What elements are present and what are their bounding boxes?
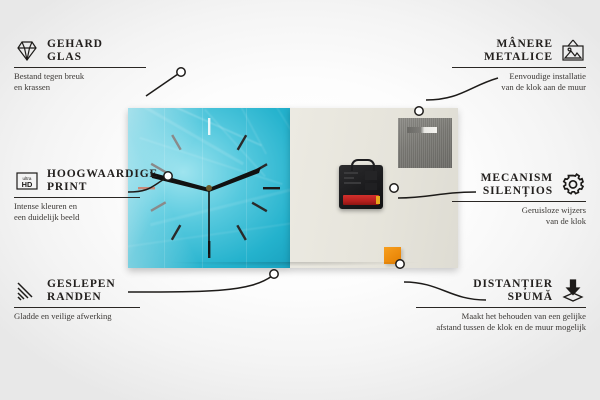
diamond-icon bbox=[14, 38, 40, 64]
callout-subtitle: Intense kleuren en een duidelijk beeld bbox=[14, 201, 140, 224]
callout-divider bbox=[416, 307, 586, 308]
callout-header: ultra HD HOOGWAARDIGE PRINT bbox=[14, 168, 140, 194]
callout-title: GEHARD GLAS bbox=[47, 38, 103, 64]
callout-gehard-glas: GEHARD GLAS Bestand tegen breuk en krass… bbox=[14, 38, 146, 94]
movement-hanger-loop bbox=[351, 159, 375, 171]
callout-title: MECANISM SILENȚIOS bbox=[481, 172, 553, 198]
callout-manere-metalice: MÂNERE METALICE Eenvoudige installatie v… bbox=[452, 38, 586, 94]
callout-divider bbox=[452, 201, 586, 202]
callout-title: MÂNERE METALICE bbox=[484, 38, 553, 64]
callout-subtitle: Gladde en veilige afwerking bbox=[14, 311, 140, 322]
callout-title: GESLEPEN RANDEN bbox=[47, 278, 116, 304]
callout-subtitle: Bestand tegen breuk en krassen bbox=[14, 71, 146, 94]
callout-distantier-spuma: DISTANȚIER SPUMĂ Maakt het behouden van … bbox=[416, 278, 586, 334]
clock-hands bbox=[150, 167, 261, 254]
callout-divider bbox=[14, 307, 140, 308]
svg-text:HD: HD bbox=[22, 180, 33, 189]
connector-dot-gehard-glas bbox=[177, 68, 185, 76]
callout-divider bbox=[14, 197, 140, 198]
minute-hand bbox=[209, 167, 261, 192]
hanger-slot bbox=[407, 127, 437, 133]
callout-header: MECANISM SILENȚIOS bbox=[452, 172, 586, 198]
callout-title: DISTANȚIER SPUMĂ bbox=[473, 278, 553, 304]
callout-geslepen-randen: GESLEPEN RANDEN Gladde en veilige afwerk… bbox=[14, 278, 140, 322]
callout-subtitle: Eenvoudige installatie van de klok aan d… bbox=[452, 71, 586, 94]
clock-back-panel bbox=[290, 108, 458, 268]
callout-header: GEHARD GLAS bbox=[14, 38, 146, 64]
infographic-canvas: GEHARD GLAS Bestand tegen breuk en krass… bbox=[0, 0, 600, 400]
battery-terminal bbox=[376, 196, 380, 204]
callout-divider bbox=[14, 67, 146, 68]
callout-mecanism-silentios: MECANISM SILENȚIOS Geruisloze wijzers va… bbox=[452, 172, 586, 228]
metal-hanger-plate bbox=[398, 118, 452, 168]
picture-frame-icon bbox=[560, 38, 586, 64]
callout-header: GESLEPEN RANDEN bbox=[14, 278, 140, 304]
spacer-arrow-icon bbox=[560, 278, 586, 304]
callout-header: MÂNERE METALICE bbox=[452, 38, 586, 64]
battery bbox=[343, 195, 379, 205]
clock-movement bbox=[339, 165, 383, 209]
callout-hoogwaardige-print: ultra HD HOOGWAARDIGE PRINT Intense kleu… bbox=[14, 168, 140, 224]
callout-divider bbox=[452, 67, 586, 68]
callout-header: DISTANȚIER SPUMĂ bbox=[416, 278, 586, 304]
diagonal-lines-icon bbox=[14, 278, 40, 304]
hands-hub bbox=[206, 185, 212, 191]
hour-hand bbox=[150, 172, 209, 192]
second-hand bbox=[208, 188, 210, 254]
ultra-hd-icon: ultra HD bbox=[14, 168, 40, 194]
callout-subtitle: Geruisloze wijzers van de klok bbox=[452, 205, 586, 228]
product-shadow bbox=[118, 262, 470, 274]
callout-title: HOOGWAARDIGE PRINT bbox=[47, 168, 158, 194]
gear-icon bbox=[560, 172, 586, 198]
callout-subtitle: Maakt het behouden van een gelijke afsta… bbox=[416, 311, 586, 334]
